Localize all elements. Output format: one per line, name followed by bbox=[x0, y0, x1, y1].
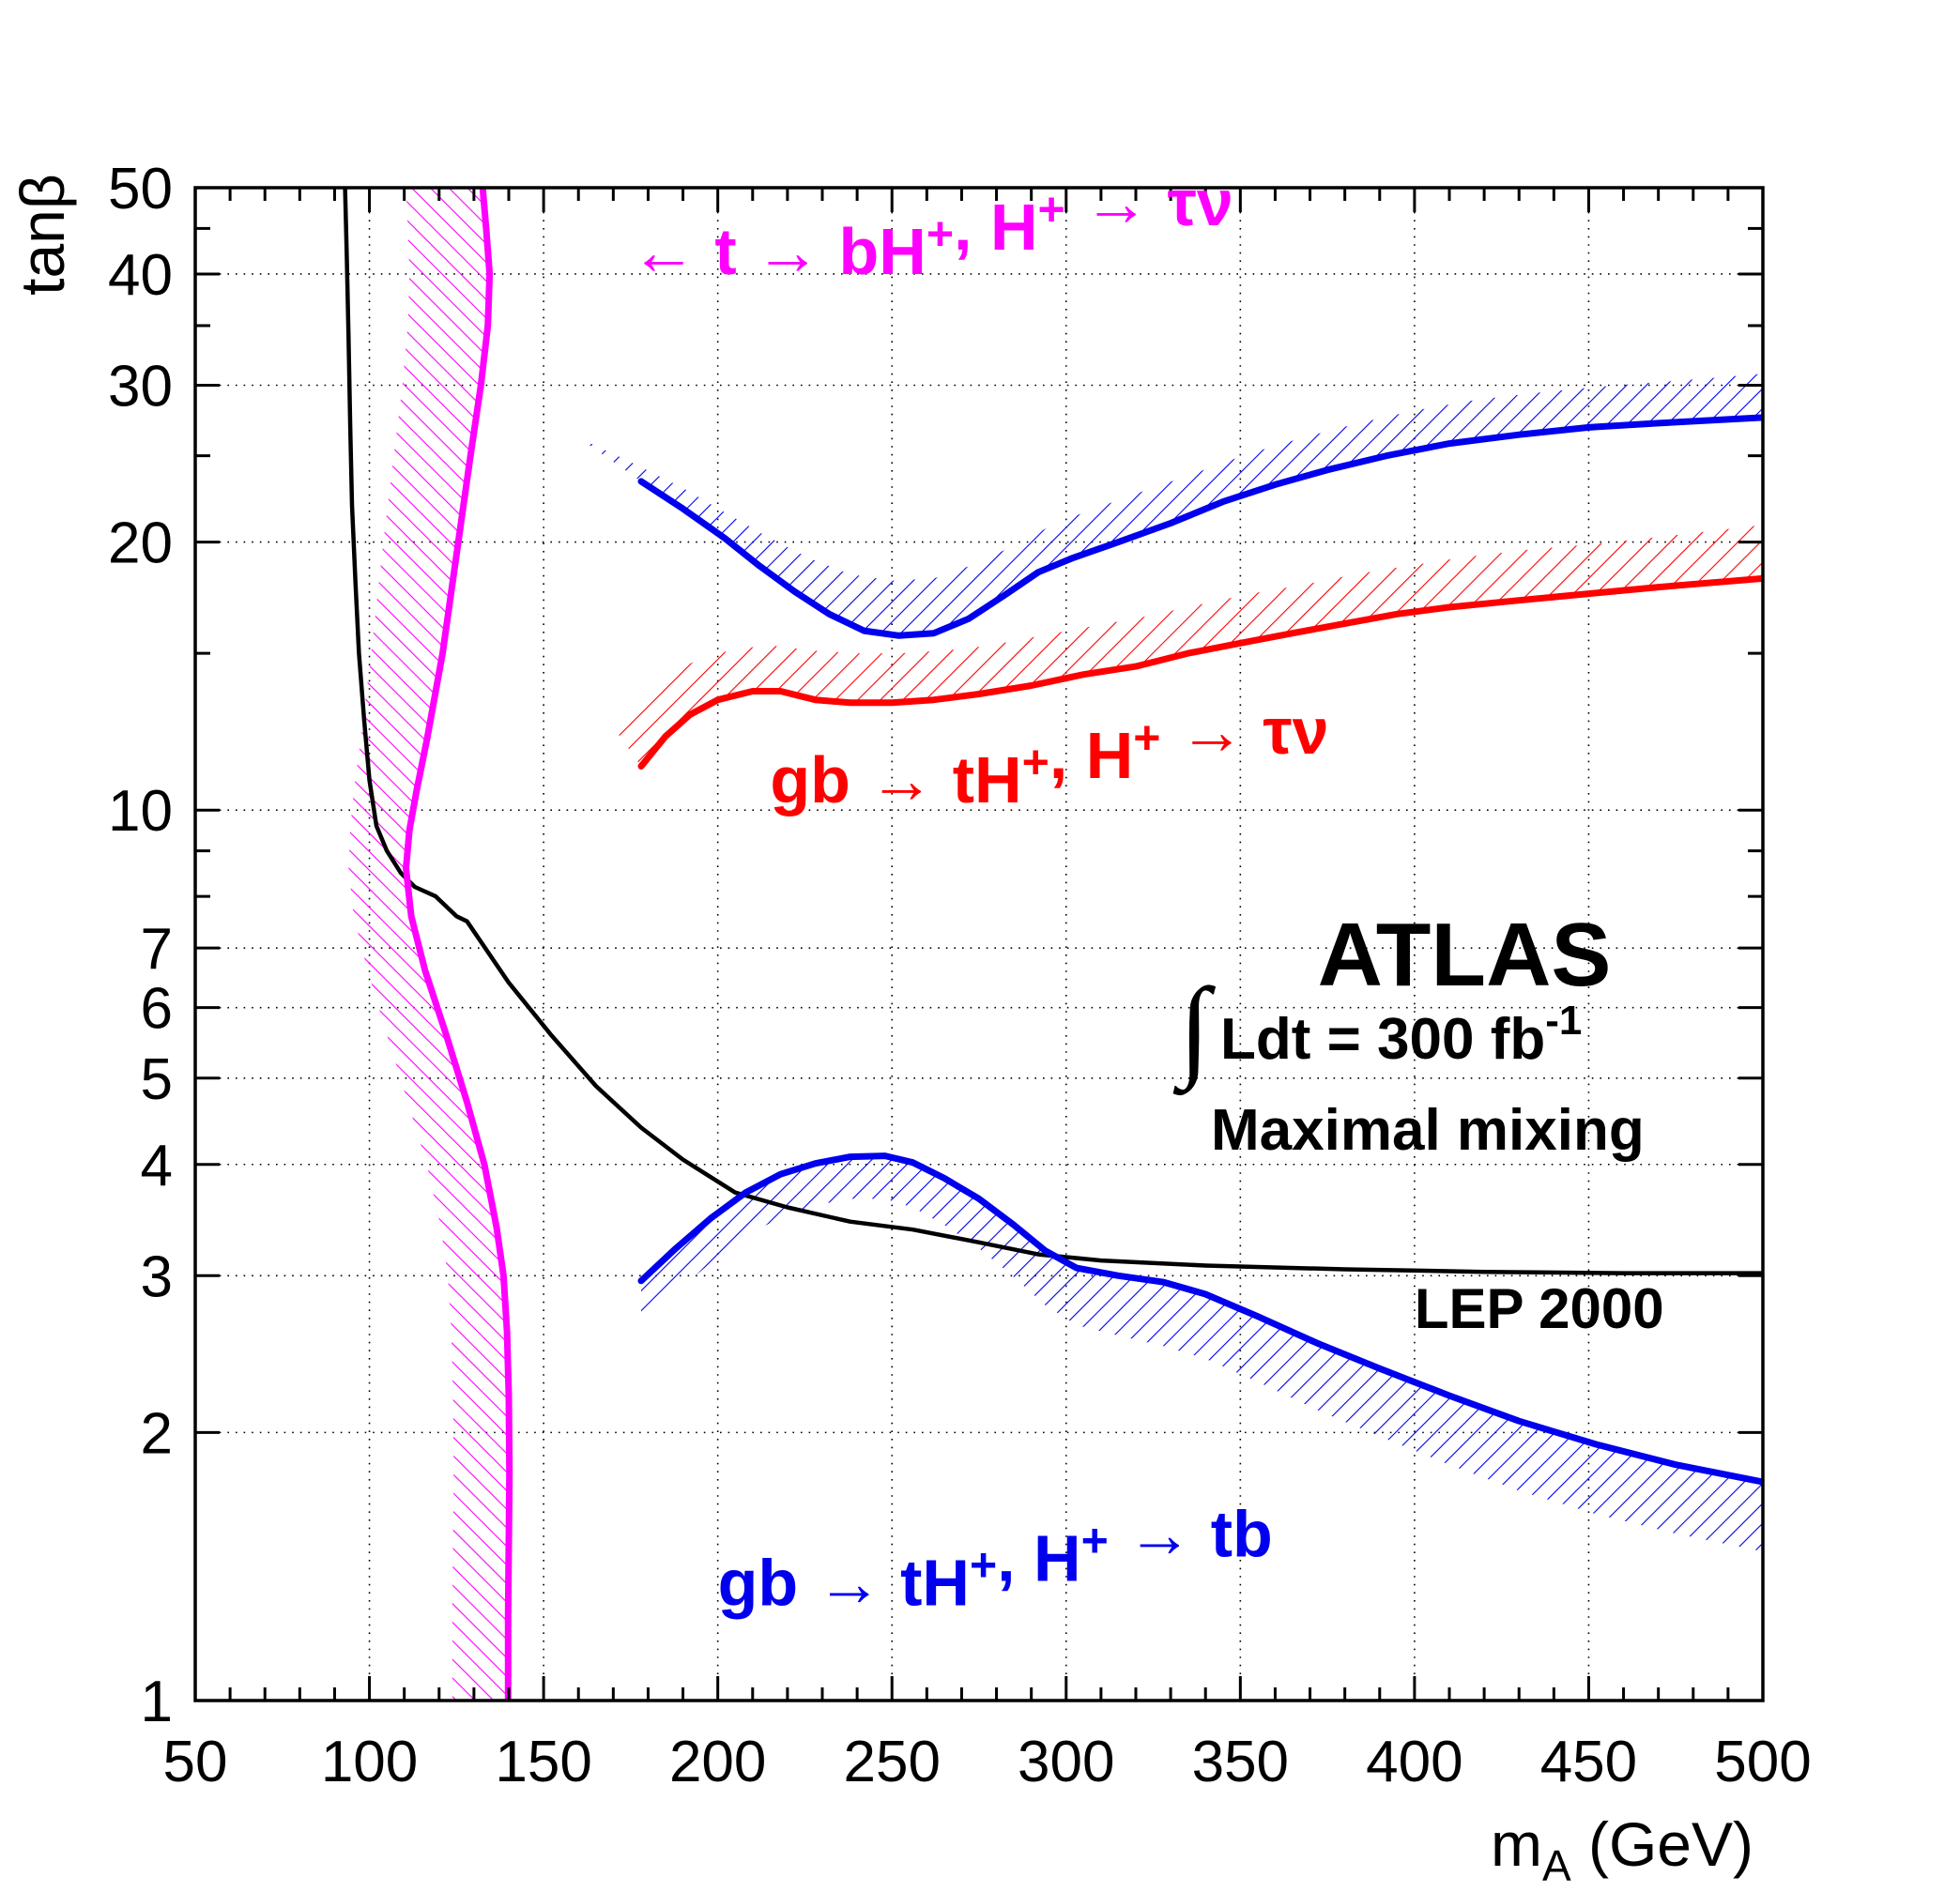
xtick-label: 500 bbox=[1714, 1730, 1811, 1794]
xtick-label: 400 bbox=[1366, 1730, 1462, 1794]
ytick-label: 1 bbox=[141, 1670, 173, 1734]
xtick-label: 350 bbox=[1192, 1730, 1289, 1794]
atlas-label: ATLAS bbox=[1318, 905, 1612, 1005]
chart-canvas: 5010015020025030035040045050012345671020… bbox=[0, 0, 1960, 1892]
ytick-label: 7 bbox=[141, 917, 173, 982]
xtick-label: 300 bbox=[1018, 1730, 1114, 1794]
ytick-label: 20 bbox=[108, 511, 173, 576]
xtick-label: 50 bbox=[163, 1730, 228, 1794]
ytick-label: 4 bbox=[141, 1134, 173, 1198]
ytick-label: 6 bbox=[141, 977, 173, 1042]
xtick-label: 250 bbox=[843, 1730, 940, 1794]
ytick-label: 40 bbox=[108, 243, 173, 308]
xtick-label: 450 bbox=[1540, 1730, 1637, 1794]
ytick-label: 50 bbox=[108, 157, 173, 221]
ytick-label: 2 bbox=[141, 1401, 173, 1466]
ytick-label: 30 bbox=[108, 354, 173, 419]
ytick-label: 10 bbox=[108, 779, 173, 844]
canvas-background bbox=[0, 0, 1960, 1892]
luminosity-label: Ldt = 300 fb-1 bbox=[1220, 998, 1582, 1072]
xtick-label: 100 bbox=[321, 1730, 418, 1794]
xtick-label: 200 bbox=[669, 1730, 766, 1794]
mixing-scenario-label: Maximal mixing bbox=[1211, 1098, 1645, 1163]
x-axis-title: mA (GeV) bbox=[1491, 1809, 1753, 1890]
ytick-label: 5 bbox=[141, 1047, 173, 1112]
annotation-lep-label: LEP 2000 bbox=[1415, 1277, 1664, 1340]
xtick-label: 150 bbox=[495, 1730, 591, 1794]
figure-root: 5010015020025030035040045050012345671020… bbox=[0, 0, 1960, 1892]
y-axis-title: tanβ bbox=[8, 174, 77, 296]
ytick-label: 3 bbox=[141, 1244, 173, 1309]
